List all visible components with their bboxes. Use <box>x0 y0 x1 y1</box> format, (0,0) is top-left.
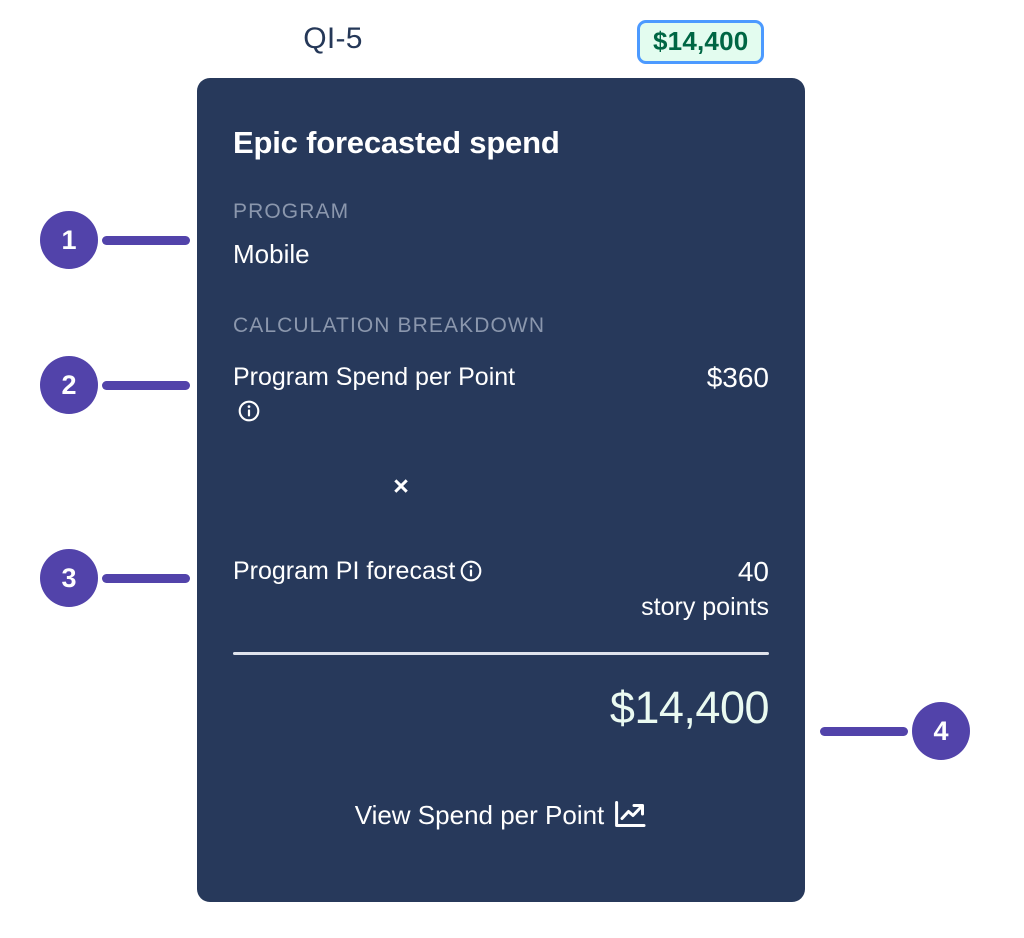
callout-badge: 4 <box>912 702 970 760</box>
grand-total-value: $14,400 <box>233 682 769 734</box>
calc-row-label-text: Program PI forecast <box>233 557 455 585</box>
trending-up-chart-icon <box>613 800 647 830</box>
callout-badge: 3 <box>40 549 98 607</box>
calc-row-value-number: $360 <box>707 362 769 393</box>
callout-line <box>102 381 190 390</box>
callout-3: 3 <box>40 549 190 607</box>
callout-badge: 2 <box>40 356 98 414</box>
info-icon[interactable] <box>460 560 482 582</box>
callout-line <box>102 574 190 583</box>
info-icon[interactable] <box>238 400 260 422</box>
calc-row-value: $360 <box>707 360 769 397</box>
callout-badge: 1 <box>40 211 98 269</box>
view-spend-per-point-link[interactable]: View Spend per Point <box>233 800 769 831</box>
card-title: Epic forecasted spend <box>233 125 560 161</box>
view-spend-per-point-label: View Spend per Point <box>355 800 605 830</box>
multiply-operator: × <box>197 473 733 500</box>
callout-line <box>102 236 190 245</box>
calc-row-value: 40 story points <box>641 554 769 624</box>
calc-row-value-unit: story points <box>641 591 769 624</box>
program-value: Mobile <box>233 239 310 270</box>
calc-row-value-number: 40 <box>738 556 769 587</box>
header-row: QI-5 $14,400 <box>0 0 1024 78</box>
callout-line <box>820 727 908 736</box>
program-section-label: PROGRAM <box>233 200 349 224</box>
calculation-breakdown-label: CALCULATION BREAKDOWN <box>233 314 545 338</box>
calc-row-label-text: Program Spend per Point <box>233 363 515 391</box>
callout-4: 4 <box>820 702 970 760</box>
epic-forecasted-spend-card: Epic forecasted spend PROGRAM Mobile CAL… <box>197 78 805 902</box>
callout-1: 1 <box>40 211 190 269</box>
period-label: QI-5 <box>283 22 383 56</box>
total-divider <box>233 652 769 655</box>
callout-2: 2 <box>40 356 190 414</box>
calc-row-label: Program Spend per Point <box>233 360 533 428</box>
calc-row-label: Program PI forecast <box>233 554 533 588</box>
total-spend-badge[interactable]: $14,400 <box>637 20 764 64</box>
